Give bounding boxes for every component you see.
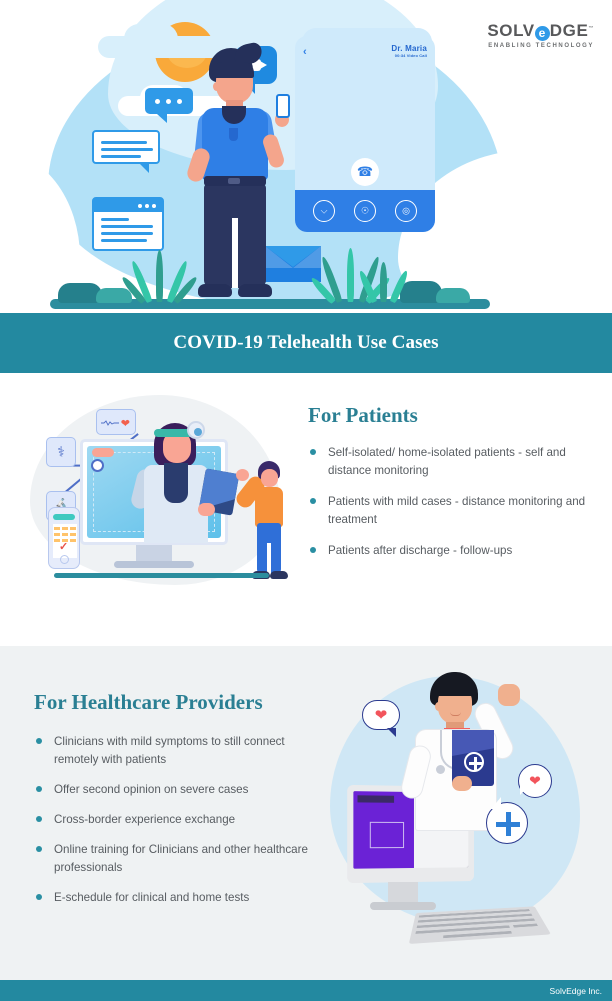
video-call-card: ‹ Dr. Maria 00:34 Video Call xyxy=(295,36,435,232)
calendar-phone-icon: ✓ xyxy=(48,507,80,569)
medical-plus-bubble-icon xyxy=(486,802,528,844)
providers-content: For Healthcare Providers Clinicians with… xyxy=(34,690,314,919)
keyboard-icon xyxy=(409,906,551,944)
browser-window-icon xyxy=(92,197,164,251)
heartbeat-line-icon xyxy=(101,420,119,426)
logo-e-mark: e xyxy=(535,26,550,41)
monitor-stand xyxy=(388,882,418,904)
stethoscope-icon: ⚕ xyxy=(46,437,76,467)
page-title: COVID-19 Telehealth Use Cases xyxy=(173,332,438,354)
title-banner: COVID-19 Telehealth Use Cases xyxy=(0,313,612,373)
logo-tagline: ENABLING TECHNOLOGY xyxy=(487,43,594,49)
footer-company-name: SolvEdge Inc. xyxy=(550,986,602,996)
list-item: E-schedule for clinical and home tests xyxy=(34,889,314,907)
caller-name: Dr. Maria xyxy=(391,44,427,53)
trademark-symbol: ™ xyxy=(588,25,594,31)
monitor-base xyxy=(114,561,194,568)
brand-logo: SOLVeDGE™ ENABLING TECHNOLOGY xyxy=(487,22,594,49)
call-controls-bar: ⌵ ☉ ◎ xyxy=(295,190,435,232)
network-node-icon xyxy=(91,459,104,472)
heartbeat-bubble-icon: ❤ xyxy=(362,700,400,730)
hero-illustration: ‹ Dr. Maria 00:34 Video Call xyxy=(0,0,612,315)
list-item: Patients with mild cases - distance moni… xyxy=(308,493,596,529)
doctor-on-screen-illustration xyxy=(136,417,236,547)
list-item: Offer second opinion on severe cases xyxy=(34,781,314,799)
phone-icon[interactable]: ☎ xyxy=(351,158,379,186)
person-with-phone-illustration xyxy=(182,48,292,303)
providers-heading: For Healthcare Providers xyxy=(34,690,314,715)
record-icon[interactable]: ◎ xyxy=(395,200,417,222)
providers-illustration: ❤ ❤ xyxy=(318,660,596,960)
infographic-page: ‹ Dr. Maria 00:34 Video Call xyxy=(0,0,612,1001)
plant-icon xyxy=(368,262,398,302)
patients-content: For Patients Self-isolated/ home-isolate… xyxy=(308,403,596,573)
medical-cross-icon xyxy=(464,752,484,772)
patients-illustration: ⚕ 🔬 ❤ ➕ xyxy=(18,387,294,592)
list-item: Self-isolated/ home-isolated patients - … xyxy=(308,444,596,480)
providers-bullet-list: Clinicians with mild symptoms to still c… xyxy=(34,733,314,907)
ground-strip xyxy=(54,573,269,578)
heartbeat-icon: ❤ xyxy=(96,409,136,435)
patients-bullet-list: Self-isolated/ home-isolated patients - … xyxy=(308,444,596,560)
microphone-icon[interactable]: ☉ xyxy=(354,200,376,222)
plant-icon xyxy=(140,250,180,302)
patients-heading: For Patients xyxy=(308,403,596,428)
logo-text-part2: DGE xyxy=(550,21,589,40)
monitor-base xyxy=(370,902,436,910)
heart-bubble-icon: ❤ xyxy=(518,764,552,798)
flip-camera-icon[interactable]: ⌵ xyxy=(313,200,335,222)
chevron-left-icon[interactable]: ‹ xyxy=(303,46,307,58)
list-item: Cross-border experience exchange xyxy=(34,811,314,829)
patient-person-illustration xyxy=(246,461,292,577)
logo-text-part1: SOLV xyxy=(487,21,534,40)
section-for-healthcare-providers: For Healthcare Providers Clinicians with… xyxy=(0,646,612,980)
caller-status: 00:34 Video Call xyxy=(391,53,427,58)
footer-bar: SolvEdge Inc. xyxy=(0,980,612,1001)
bush-icon xyxy=(96,288,132,303)
list-item: Online training for Clinicians and other… xyxy=(34,841,314,877)
section-for-patients: ⚕ 🔬 ❤ ➕ xyxy=(0,373,612,646)
list-item: Patients after discharge - follow-ups xyxy=(308,542,596,560)
list-item: Clinicians with mild symptoms to still c… xyxy=(34,733,314,769)
message-bubble-icon xyxy=(92,130,160,164)
bush-icon xyxy=(436,288,470,303)
caller-info: Dr. Maria 00:34 Video Call xyxy=(391,44,427,58)
